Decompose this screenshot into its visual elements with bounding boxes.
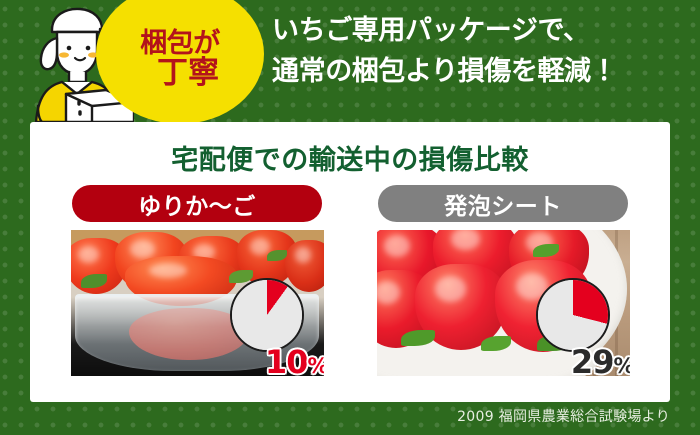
- comparison-column-foam-sheet: 発泡シート: [368, 185, 638, 376]
- label-pill-yurikago: ゆりか〜ご: [72, 185, 322, 222]
- headline-line-2: 通常の梱包より損傷を軽減！: [272, 51, 696, 92]
- banner-header: 梱包が 丁寧 いちご専用パッケージで、 通常の梱包より損傷を軽減！: [0, 0, 700, 122]
- pie-circle-yurikago: [230, 278, 304, 352]
- pie-slice-yurikago: [232, 280, 302, 350]
- label-pill-foam-sheet: 発泡シート: [378, 185, 628, 222]
- pie-percent-value-foam-sheet: 29: [571, 343, 614, 376]
- pie-circle-foam-sheet: [536, 278, 610, 352]
- comparison-row: ゆりか〜ご: [30, 185, 670, 376]
- pie-percent-foam-sheet: 29%: [571, 346, 630, 376]
- pie-chart-foam-sheet: 29%: [536, 278, 630, 374]
- promo-banner: 梱包が 丁寧 いちご専用パッケージで、 通常の梱包より損傷を軽減！ 宅配便での輸…: [0, 0, 700, 435]
- comparison-card: 宅配便での輸送中の損傷比較 ゆりか〜ご: [30, 122, 670, 402]
- pie-chart-yurikago: 10%: [230, 278, 324, 374]
- comparison-column-yurikago: ゆりか〜ご: [62, 185, 332, 376]
- badge-line-1: 梱包が: [140, 30, 220, 58]
- yellow-badge-text: 梱包が 丁寧: [96, 4, 264, 116]
- pie-percent-yurikago: 10%: [265, 346, 324, 376]
- photo-yurikago: 10%: [71, 230, 324, 376]
- card-title: 宅配便での輸送中の損傷比較: [30, 138, 670, 177]
- headline-line-1: いちご専用パッケージで、: [272, 10, 696, 51]
- badge-line-2: 丁寧: [141, 58, 219, 90]
- source-note: 2009 福岡県農業総合試験場より: [457, 406, 670, 426]
- headline: いちご専用パッケージで、 通常の梱包より損傷を軽減！: [272, 10, 696, 92]
- pie-percent-unit-yurikago: %: [307, 354, 323, 376]
- photo-foam-sheet: 29%: [377, 230, 630, 376]
- pie-slice-foam-sheet: [538, 280, 608, 350]
- pie-percent-unit-foam-sheet: %: [613, 354, 629, 376]
- pie-percent-value-yurikago: 10: [265, 343, 308, 376]
